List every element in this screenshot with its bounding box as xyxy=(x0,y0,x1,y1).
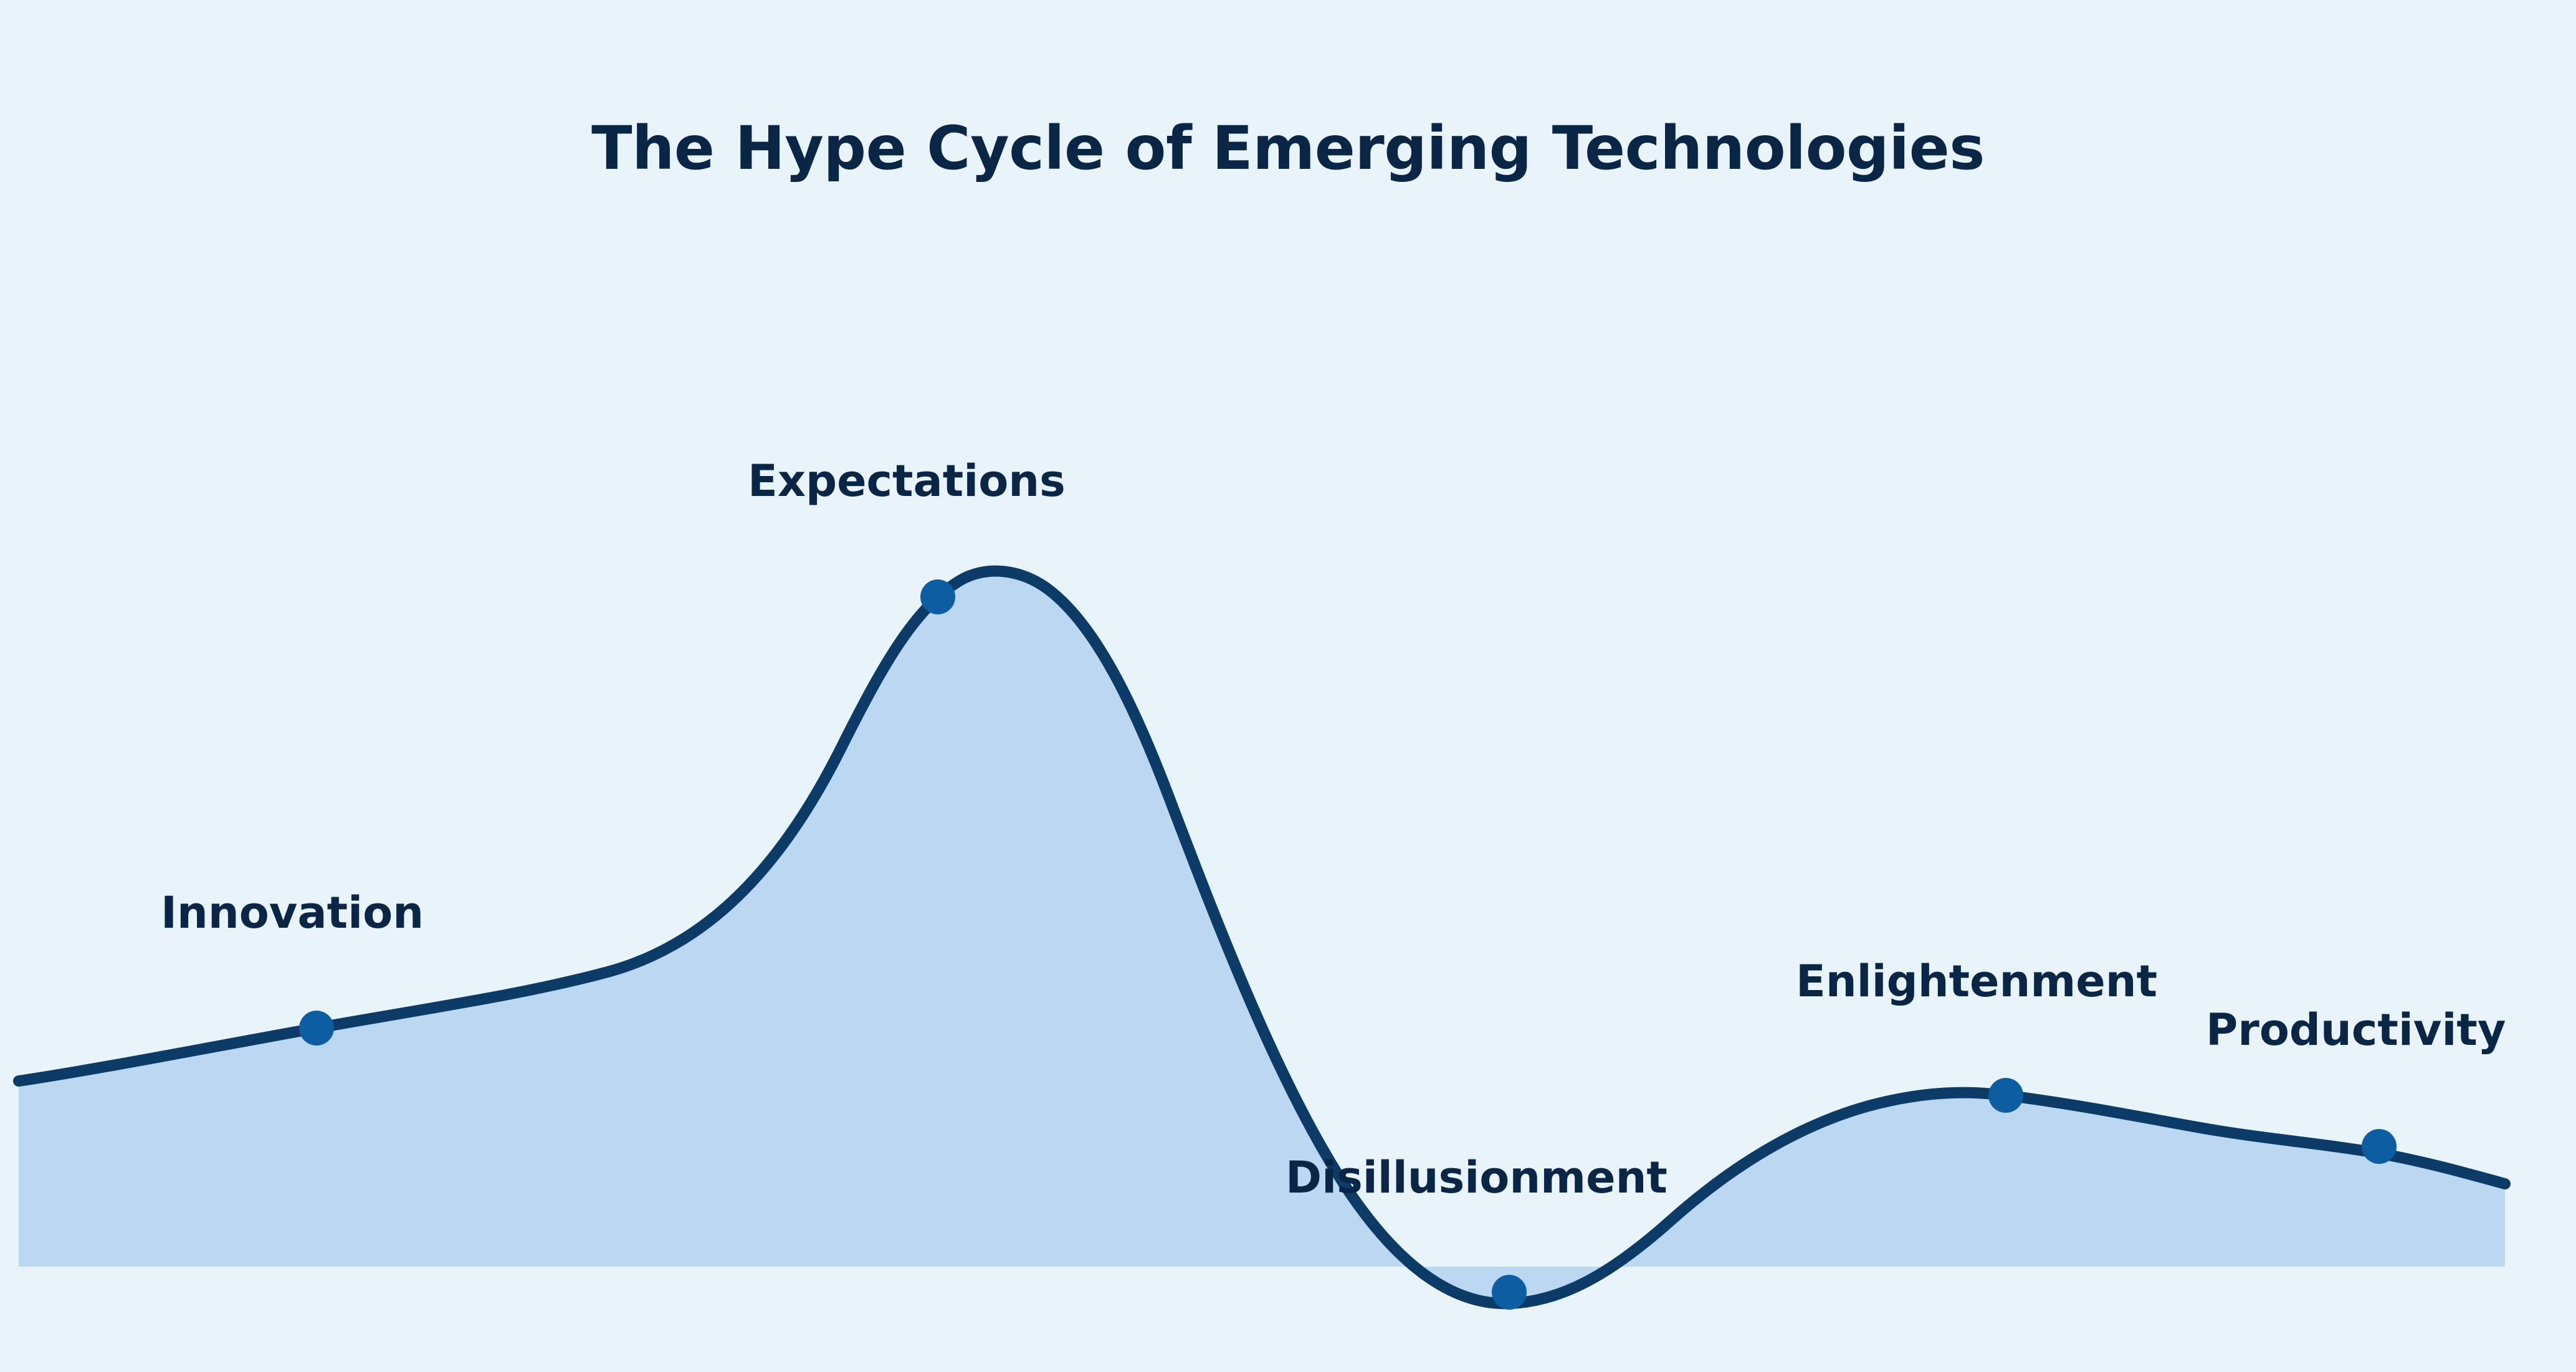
stage-label-productivity: Productivity xyxy=(2206,1008,2506,1052)
marker-innovation[interactable] xyxy=(299,1011,334,1046)
stage-label-disillusionment: Disillusionment xyxy=(1286,1156,1667,1199)
marker-enlightenment[interactable] xyxy=(1988,1078,2023,1113)
chart-title: The Hype Cycle of Emerging Technologies xyxy=(0,117,2576,180)
stage-label-expectations: Expectations xyxy=(748,459,1066,503)
marker-disillusionment[interactable] xyxy=(1492,1275,1527,1310)
marker-expectations[interactable] xyxy=(920,579,955,614)
stage-label-enlightenment: Enlightenment xyxy=(1796,960,2157,1003)
hype-cycle-figure: The Hype Cycle of Emerging Technologies … xyxy=(0,0,2576,1372)
stage-label-innovation: Innovation xyxy=(161,891,424,935)
marker-productivity[interactable] xyxy=(2362,1129,2397,1164)
